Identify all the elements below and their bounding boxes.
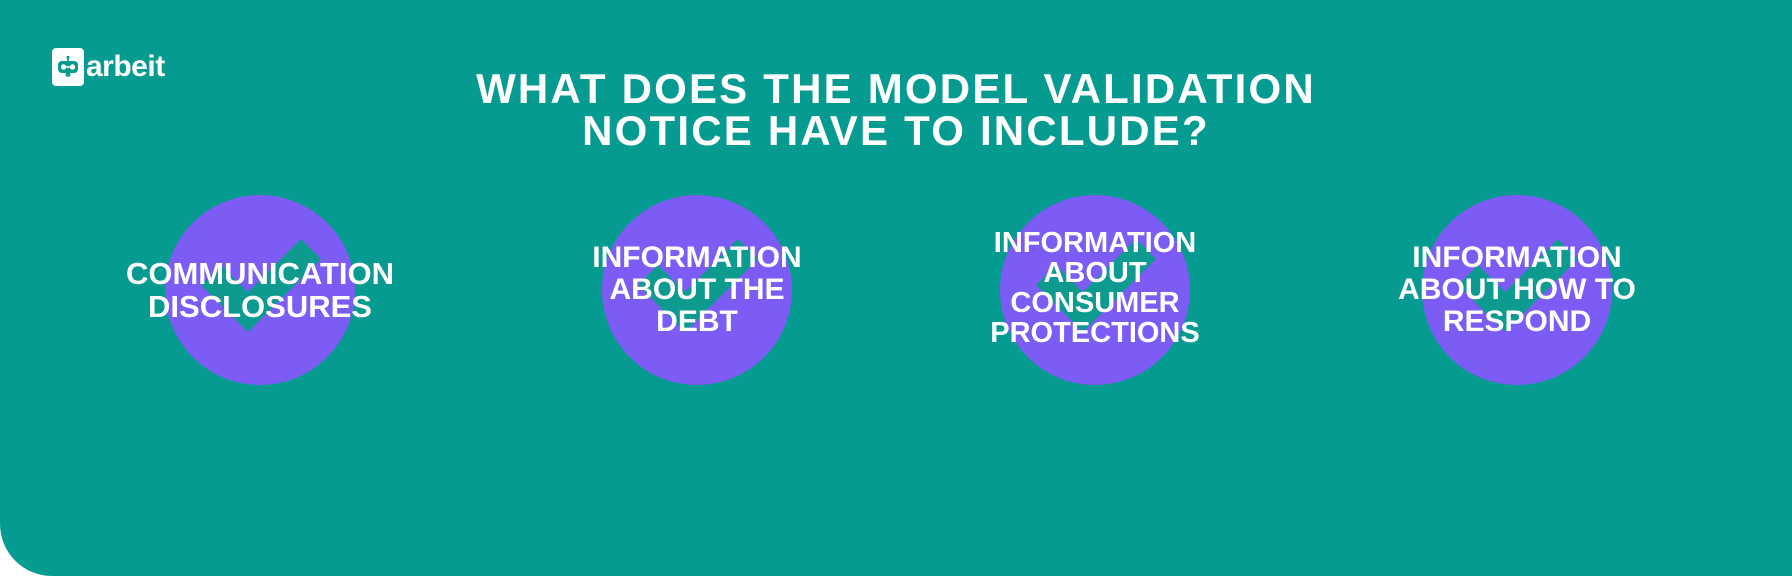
item-information-about-how-to-respond: Information about how to respond — [1422, 195, 1612, 385]
item-information-about-consumer-protections: Information about consumer protections — [1000, 195, 1190, 385]
item-label: Information about consumer protections — [945, 228, 1245, 348]
item-label: Information about the debt — [547, 242, 847, 338]
item-label: Information about how to respond — [1347, 242, 1687, 338]
page-title-line-2: notice have to include? — [0, 110, 1792, 152]
infographic-card: arbeit What does the model validation no… — [0, 0, 1792, 576]
item-information-about-the-debt: Information about the debt — [602, 195, 792, 385]
page-title-line-1: What does the model validation — [0, 68, 1792, 110]
items-row: Communication disclosures Information ab… — [0, 195, 1792, 395]
item-communication-disclosures: Communication disclosures — [165, 195, 355, 385]
page-title: What does the model validation notice ha… — [0, 68, 1792, 152]
item-label: Communication disclosures — [90, 257, 430, 323]
